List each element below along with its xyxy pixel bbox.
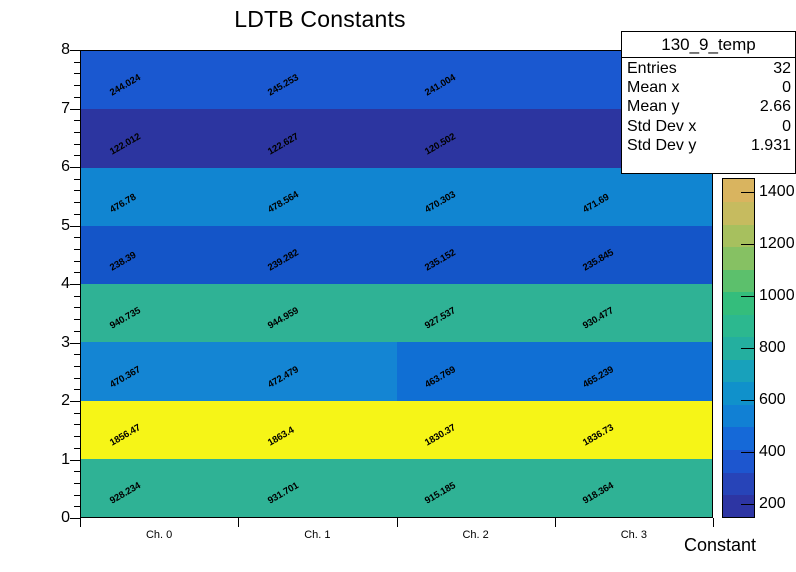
y-axis: 012345678 <box>0 50 80 518</box>
heatmap-cell <box>397 168 555 227</box>
statistics-key: Std Dev y <box>627 136 696 155</box>
y-axis-tick <box>70 167 80 168</box>
statistics-value: 0 <box>782 117 791 136</box>
colorbar-tick <box>741 296 755 297</box>
x-axis-tick <box>713 518 714 527</box>
colorbar-tick-label: 400 <box>759 443 786 461</box>
statistics-value: 32 <box>773 59 791 78</box>
colorbar-tick-label: 1400 <box>759 183 795 201</box>
y-axis-tick <box>70 226 80 227</box>
statistics-rows: Entries32Mean x0Mean y2.66Std Dev x0Std … <box>622 58 795 155</box>
heatmap-cell <box>397 226 555 285</box>
colorbar-axis: 200400600800100012001400 <box>722 178 796 518</box>
x-axis-tick <box>397 518 398 527</box>
x-axis-tick-label: Ch. 3 <box>621 529 647 541</box>
statistics-value: 2.66 <box>760 97 791 116</box>
statistics-row: Mean y2.66 <box>627 97 791 116</box>
heatmap-cell <box>554 284 712 343</box>
statistics-row: Std Dev x0 <box>627 117 791 136</box>
y-axis-tick <box>70 343 80 344</box>
colorbar-tick <box>741 192 755 193</box>
heatmap-cell <box>554 168 712 227</box>
heatmap-cell <box>239 109 397 168</box>
heatmap-cell <box>81 168 239 227</box>
heatmap-cell <box>239 168 397 227</box>
colorbar-tick-label: 200 <box>759 495 786 513</box>
heatmap-cell <box>239 401 397 460</box>
heatmap-cell <box>81 459 239 518</box>
y-axis-tick <box>70 401 80 402</box>
y-axis-tick-label: 4 <box>61 275 70 293</box>
y-axis-tick-label: 1 <box>61 451 70 469</box>
heatmap-cell <box>554 226 712 285</box>
heatmap-cell <box>397 459 555 518</box>
heatmap-cell <box>81 401 239 460</box>
heatmap-cells: 244.024245.253241.004122.012122.627120.5… <box>81 51 712 517</box>
colorbar-tick <box>741 452 755 453</box>
statistics-value: 0 <box>782 78 791 97</box>
x-axis-title: Constant <box>684 535 756 556</box>
statistics-row: Entries32 <box>627 59 791 78</box>
colorbar-tick-label: 800 <box>759 339 786 357</box>
y-axis-tick <box>70 109 80 110</box>
y-axis-tick-label: 2 <box>61 392 70 410</box>
root-canvas: LDTB Constants 012345678 244.024245.2532… <box>0 0 796 572</box>
heatmap-cell <box>239 459 397 518</box>
x-axis: Ch. 0Ch. 1Ch. 2Ch. 3 <box>80 518 714 558</box>
statistics-row: Mean x0 <box>627 78 791 97</box>
y-axis-tick-label: 5 <box>61 217 70 235</box>
colorbar-tick-label: 1000 <box>759 287 795 305</box>
heatmap-cell <box>397 109 555 168</box>
y-axis-tick-label: 7 <box>61 100 70 118</box>
statistics-box[interactable]: 130_9_temp Entries32Mean x0Mean y2.66Std… <box>621 31 796 174</box>
x-axis-tick-label: Ch. 1 <box>304 529 330 541</box>
statistics-key: Entries <box>627 59 677 78</box>
heatmap-cell <box>397 342 555 401</box>
colorbar-tick-label: 600 <box>759 391 786 409</box>
heatmap-cell <box>554 342 712 401</box>
y-axis-tick <box>70 460 80 461</box>
y-axis-tick <box>70 284 80 285</box>
statistics-row: Std Dev y1.931 <box>627 136 791 155</box>
colorbar-tick <box>741 244 755 245</box>
x-axis-tick-label: Ch. 2 <box>462 529 488 541</box>
heatmap-cell <box>239 342 397 401</box>
heatmap-cell <box>397 284 555 343</box>
heatmap-cell <box>554 401 712 460</box>
y-axis-tick <box>70 518 80 519</box>
colorbar-tick-label: 1200 <box>759 235 795 253</box>
heatmap-cell <box>81 284 239 343</box>
statistics-key: Mean y <box>627 97 679 116</box>
heatmap-cell <box>397 401 555 460</box>
heatmap-cell <box>554 459 712 518</box>
y-axis-tick <box>70 50 80 51</box>
heatmap-cell <box>81 226 239 285</box>
colorbar-tick <box>741 348 755 349</box>
page-title: LDTB Constants <box>0 6 640 33</box>
y-axis-tick-label: 3 <box>61 334 70 352</box>
x-axis-tick <box>238 518 239 527</box>
statistics-value: 1.931 <box>751 136 791 155</box>
heatmap-cell <box>397 51 555 110</box>
y-axis-tick-label: 8 <box>61 41 70 59</box>
statistics-key: Std Dev x <box>627 117 696 136</box>
heatmap-cell <box>239 284 397 343</box>
x-axis-tick <box>80 518 81 527</box>
heatmap-cell <box>81 51 239 110</box>
heatmap-cell <box>239 51 397 110</box>
heatmap-plot-area: 244.024245.253241.004122.012122.627120.5… <box>80 50 713 518</box>
heatmap-cell <box>81 342 239 401</box>
x-axis-tick-label: Ch. 0 <box>146 529 172 541</box>
statistics-key: Mean x <box>627 78 679 97</box>
y-axis-tick-label: 0 <box>61 509 70 527</box>
x-axis-tick <box>555 518 556 527</box>
colorbar-tick <box>741 400 755 401</box>
statistics-title: 130_9_temp <box>622 32 795 58</box>
heatmap-cell <box>239 226 397 285</box>
heatmap-cell <box>81 109 239 168</box>
colorbar-tick <box>741 504 755 505</box>
y-axis-tick-label: 6 <box>61 158 70 176</box>
